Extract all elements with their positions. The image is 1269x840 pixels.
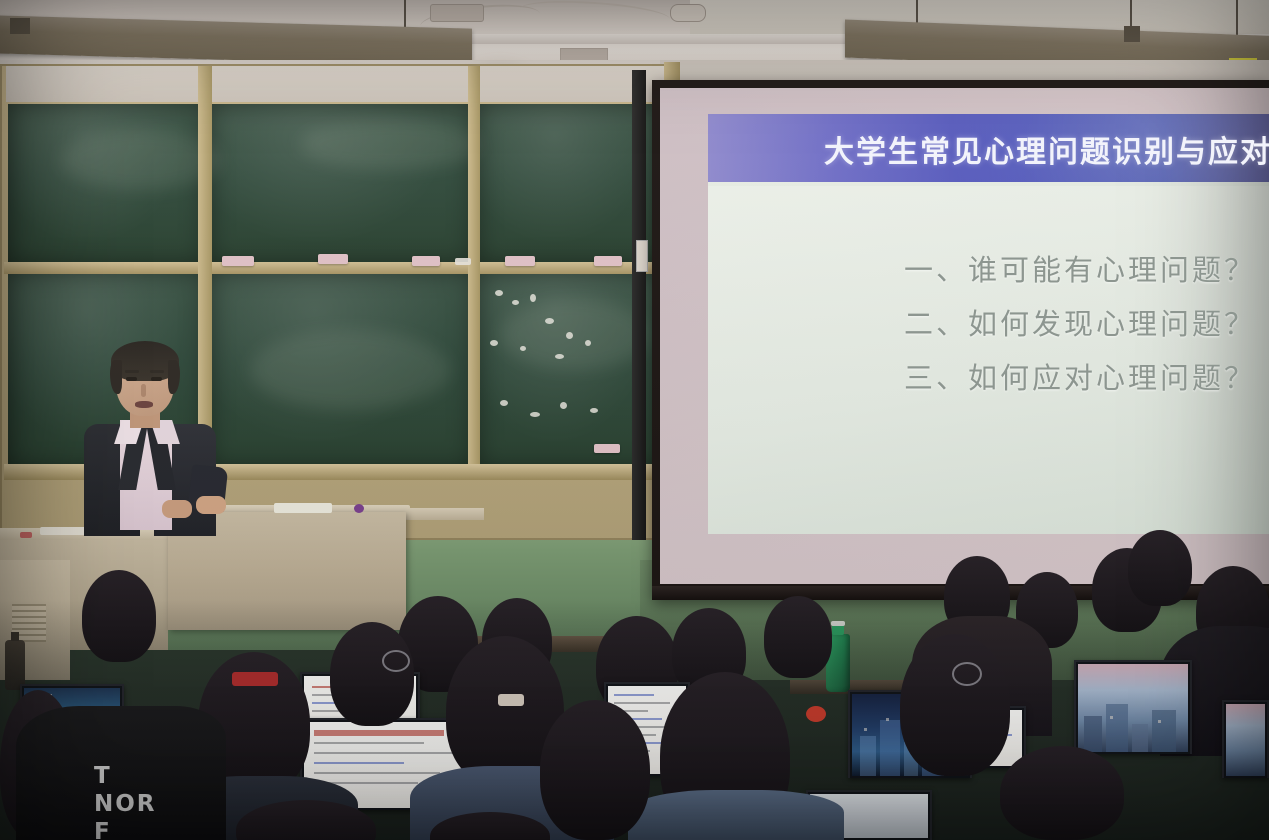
- eyebrow-left: [125, 370, 139, 373]
- nose: [141, 384, 146, 397]
- chalk-dust: [590, 408, 598, 413]
- chalk-dust: [520, 346, 526, 351]
- jacket-text-line-3: F: [94, 818, 157, 840]
- chalk-dust: [512, 300, 519, 305]
- laptop-screen: [1078, 664, 1188, 752]
- chalk-smudge: [250, 330, 450, 410]
- student-head: [764, 596, 832, 678]
- student-head: [1000, 746, 1124, 840]
- screen-surface: 大学生常见心理问题识别与应对 一、谁可能有心理问题？ 二、如何发现心理问题？ 三…: [660, 88, 1269, 584]
- laptop[interactable]: [1222, 700, 1269, 778]
- board-top-trim: [6, 66, 674, 102]
- eyebrow-right: [150, 370, 164, 373]
- hair-band: [806, 706, 826, 722]
- student-head: [540, 700, 650, 840]
- ceiling-lamp: [670, 4, 706, 22]
- slide-bullet-3: 三、如何应对心理问题？: [904, 364, 1256, 393]
- mouth: [135, 401, 153, 408]
- student-head: [1128, 530, 1192, 606]
- beam-mount: [10, 18, 30, 34]
- chalk-dust: [495, 290, 503, 296]
- purple-marker: [354, 504, 364, 513]
- red-chalk: [20, 532, 32, 538]
- laptop-lid: [1222, 700, 1269, 778]
- chalk-dust: [530, 294, 536, 302]
- hair-band: [232, 672, 278, 686]
- chalk-dust: [566, 332, 573, 339]
- jacket-brand-text: T NOR F: [94, 762, 157, 840]
- chalk-eraser: [594, 256, 622, 266]
- laptop[interactable]: [1074, 660, 1192, 754]
- chalkboard-divider: [468, 66, 480, 466]
- chalk-eraser: [505, 256, 535, 266]
- right-desk-top: [404, 508, 484, 520]
- hand-right: [196, 496, 226, 514]
- slide-bullet-2: 二、如何发现心理问题？: [904, 310, 1256, 339]
- hand-left: [162, 500, 192, 518]
- hair-side-left: [110, 360, 122, 394]
- chalk-dust: [530, 412, 540, 417]
- slide-bullet-list: 一、谁可能有心理问题？ 二、如何发现心理问题？ 三、如何应对心理问题？: [904, 256, 1256, 418]
- chalk-eraser: [594, 444, 620, 453]
- eye-left: [126, 377, 137, 381]
- hair-side-right: [168, 360, 180, 394]
- laptop-screen: [1226, 704, 1265, 776]
- ceiling-junction-box: [430, 4, 484, 22]
- eye-right: [151, 377, 162, 381]
- hair-band: [498, 694, 524, 706]
- laptop-lid: [1074, 660, 1192, 754]
- glasses-icon: [382, 650, 410, 672]
- student-head: [900, 634, 1010, 776]
- student-head: [82, 570, 156, 662]
- jacket-text-line-1: T: [94, 762, 157, 790]
- slide-title: 大学生常见心理问题识别与应对: [824, 127, 1269, 171]
- projection-screen: 大学生常见心理问题识别与应对 一、谁可能有心理问题？ 二、如何发现心理问题？ 三…: [652, 80, 1269, 600]
- chalk-smudge: [500, 300, 650, 370]
- chalk-eraser: [412, 256, 440, 266]
- paper-sheet: [274, 503, 332, 513]
- chalk-dust: [545, 318, 554, 324]
- student-shoulders: [628, 790, 844, 840]
- slide-bullet-1: 一、谁可能有心理问题？: [904, 256, 1256, 285]
- chalk-dust: [500, 400, 508, 406]
- chalk-dust: [585, 340, 591, 346]
- slide: 大学生常见心理问题识别与应对 一、谁可能有心理问题？ 二、如何发现心理问题？ 三…: [708, 114, 1269, 534]
- beam-hanger-rod: [404, 0, 406, 30]
- chalk-dust: [560, 402, 567, 409]
- chalk-smudge: [60, 130, 220, 190]
- presenter: [78, 346, 228, 536]
- chalk-dust: [490, 340, 498, 346]
- lecture-hall-photo: 大学生常见心理问题识别与应对 一、谁可能有心理问题？ 二、如何发现心理问题？ 三…: [0, 0, 1269, 840]
- jacket-text-line-2: NOR: [94, 790, 157, 818]
- board-right-column: [632, 70, 646, 540]
- chalk-eraser: [222, 256, 254, 266]
- chalk-mark: [455, 258, 471, 265]
- chalk-eraser: [318, 254, 348, 264]
- beam-mount: [1124, 26, 1140, 42]
- student-head: [330, 622, 414, 726]
- glasses-icon: [952, 662, 982, 686]
- wall-switch[interactable]: [636, 240, 648, 272]
- chalk-dust: [555, 354, 564, 359]
- chalk-smudge: [300, 120, 480, 170]
